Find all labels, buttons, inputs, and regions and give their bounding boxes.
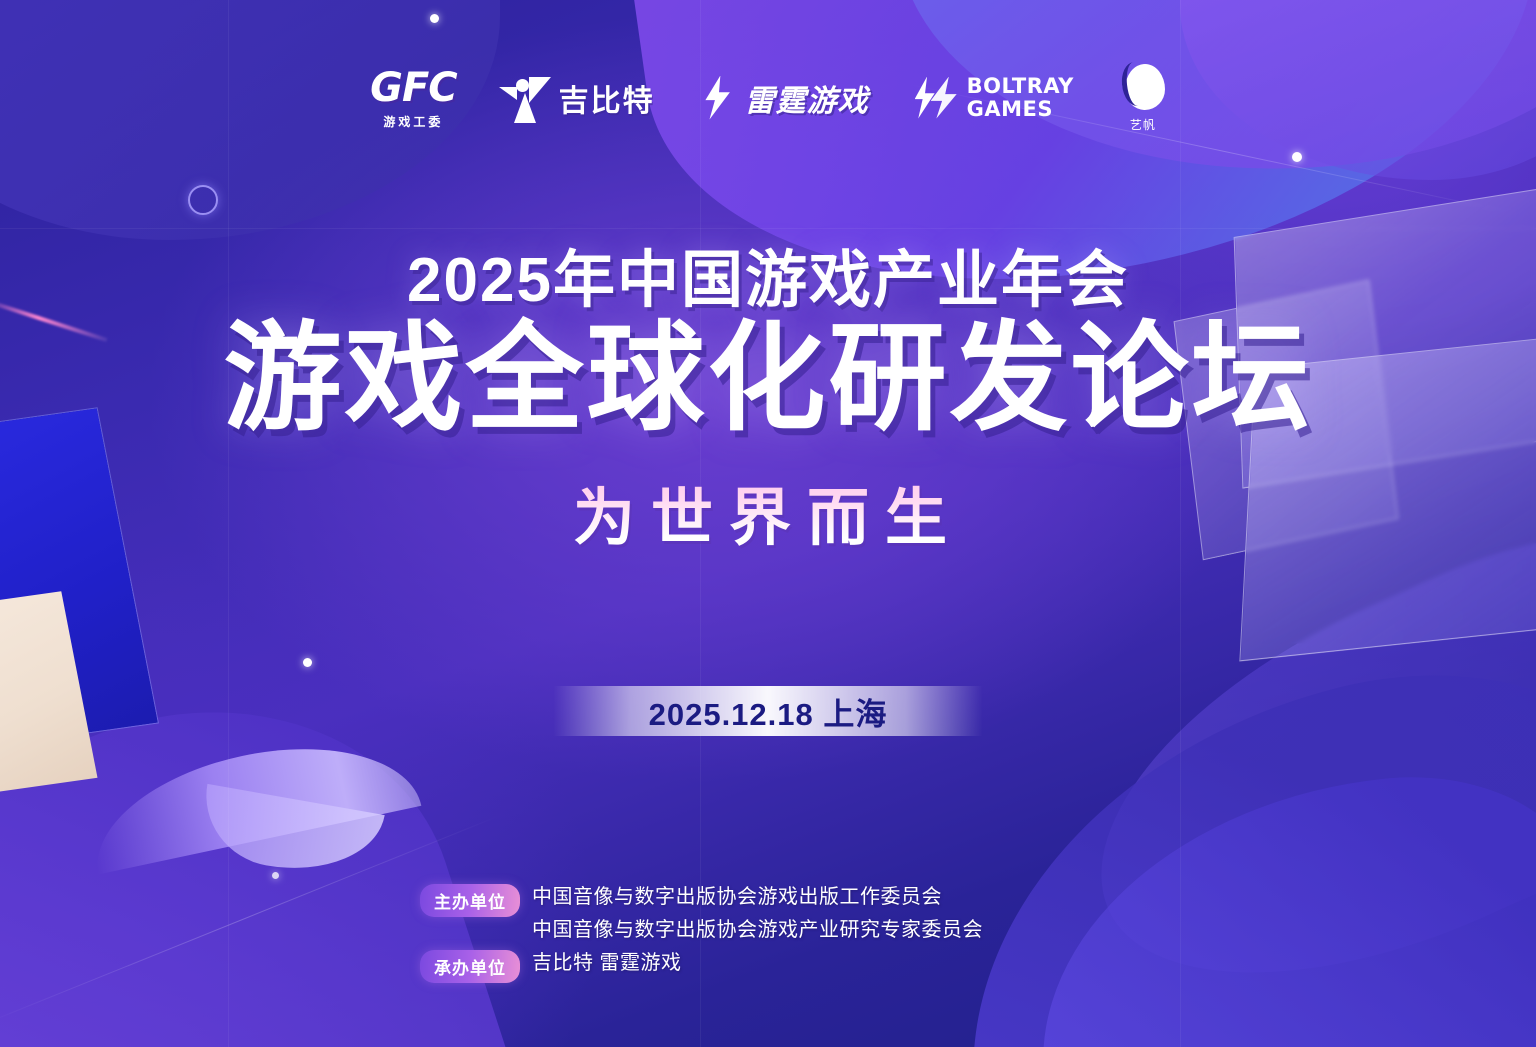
- organizer-badge: 主办单位: [420, 884, 520, 917]
- yifan-sail-icon: [1120, 62, 1166, 114]
- yifan-logo-sub: 艺帆: [1130, 116, 1156, 133]
- gibite-logo-word: 吉比特: [559, 76, 655, 120]
- host-row: 承办单位 吉比特 雷霆游戏: [420, 950, 983, 983]
- organizer-row: 主办单位 中国音像与数字出版协会游戏出版工作委员会 中国音像与数字出版协会游戏产…: [420, 884, 983, 944]
- host-line: 吉比特 雷霆游戏: [532, 950, 682, 977]
- organizer-line: 中国音像与数字出版协会游戏出版工作委员会: [532, 884, 983, 911]
- event-tagline: 为世界而生: [0, 467, 1536, 557]
- boltray-logo-line1: BOLTRAY: [967, 75, 1074, 97]
- gfc-logo-word: GFC: [370, 65, 457, 111]
- host-badge: 承办单位: [420, 950, 520, 983]
- lightning-bolt-icon: [701, 76, 735, 120]
- footer-credits: 主办单位 中国音像与数字出版协会游戏出版工作委员会 中国音像与数字出版协会游戏产…: [420, 884, 983, 983]
- event-subtitle: 2025年中国游戏产业年会: [0, 250, 1536, 312]
- boltray-logo-line2: GAMES: [967, 98, 1074, 120]
- gibite-logo: 吉比特: [503, 75, 655, 121]
- gfc-logo: GFC 游戏工委: [370, 65, 457, 130]
- date-location-bar: 2025.12.18 上海: [553, 686, 983, 736]
- leiting-logo: 雷霆游戏: [701, 76, 869, 120]
- gfc-logo-sub: 游戏工委: [383, 113, 443, 130]
- yifan-logo: 艺帆: [1120, 62, 1166, 133]
- date-location-text: 2025.12.18 上海: [649, 689, 888, 734]
- page-title: 游戏全球化研发论坛: [0, 318, 1536, 441]
- title-block: 2025年中国游戏产业年会 游戏全球化研发论坛 为世界而生: [0, 250, 1536, 557]
- leiting-logo-word: 雷霆游戏: [745, 76, 869, 120]
- boltray-logo: BOLTRAY GAMES: [915, 75, 1074, 121]
- event-poster: GFC 游戏工委 吉比特 雷霆游戏 BOLTRAY GAMES: [0, 0, 1536, 1047]
- boltray-bolt-icon: [915, 75, 957, 121]
- gibite-mark-icon: [503, 75, 549, 121]
- sponsor-logo-row: GFC 游戏工委 吉比特 雷霆游戏 BOLTRAY GAMES: [0, 62, 1536, 133]
- organizer-line: 中国音像与数字出版协会游戏产业研究专家委员会: [532, 917, 983, 944]
